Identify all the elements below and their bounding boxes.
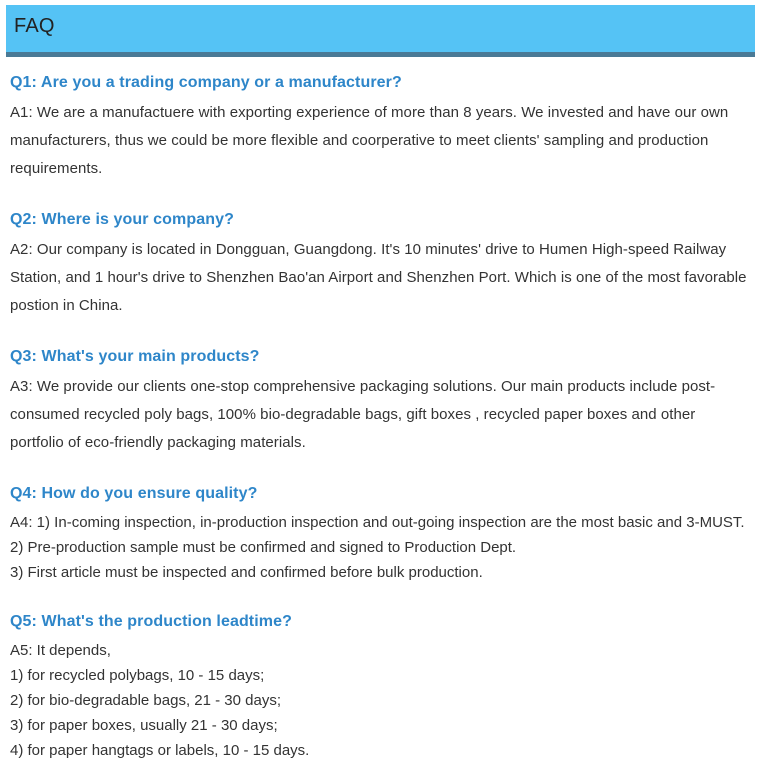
faq-item-q3: Q3: What's your main products? A3: We pr…	[10, 344, 752, 457]
faq-answer-line: 4) for paper hangtags or labels, 10 - 15…	[10, 738, 752, 763]
faq-item-q4: Q4: How do you ensure quality? A4: 1) In…	[10, 481, 752, 585]
faq-answer-line: A5: It depends,	[10, 638, 752, 663]
faq-answer: A1: We are a manufactuere with exporting…	[10, 99, 752, 183]
faq-page: FAQ Q1: Are you a trading company or a m…	[0, 0, 765, 748]
faq-question: Q1: Are you a trading company or a manuf…	[10, 70, 752, 96]
faq-answer-line: 1) for recycled polybags, 10 - 15 days;	[10, 663, 752, 688]
faq-item-q1: Q1: Are you a trading company or a manuf…	[10, 70, 752, 183]
faq-answer-line: 2) Pre-production sample must be confirm…	[10, 535, 752, 560]
faq-item-q5: Q5: What's the production leadtime? A5: …	[10, 609, 752, 763]
faq-answer-line: 3) First article must be inspected and c…	[10, 560, 752, 585]
faq-answer: A3: We provide our clients one-stop comp…	[10, 373, 752, 457]
faq-content: Q1: Are you a trading company or a manuf…	[10, 70, 752, 763]
faq-question: Q2: Where is your company?	[10, 207, 752, 233]
page-title: FAQ	[14, 12, 55, 40]
faq-answer-line: A4: 1) In-coming inspection, in-producti…	[10, 510, 752, 535]
faq-banner: FAQ	[6, 5, 755, 57]
faq-answer: A4: 1) In-coming inspection, in-producti…	[10, 510, 752, 585]
faq-answer-line: 3) for paper boxes, usually 21 - 30 days…	[10, 713, 752, 738]
faq-item-q2: Q2: Where is your company? A2: Our compa…	[10, 207, 752, 320]
faq-answer: A2: Our company is located in Dongguan, …	[10, 236, 752, 320]
faq-answer: A5: It depends,1) for recycled polybags,…	[10, 638, 752, 763]
faq-question: Q4: How do you ensure quality?	[10, 481, 752, 507]
faq-answer-line: 2) for bio-degradable bags, 21 - 30 days…	[10, 688, 752, 713]
faq-question: Q5: What's the production leadtime?	[10, 609, 752, 635]
faq-question: Q3: What's your main products?	[10, 344, 752, 370]
